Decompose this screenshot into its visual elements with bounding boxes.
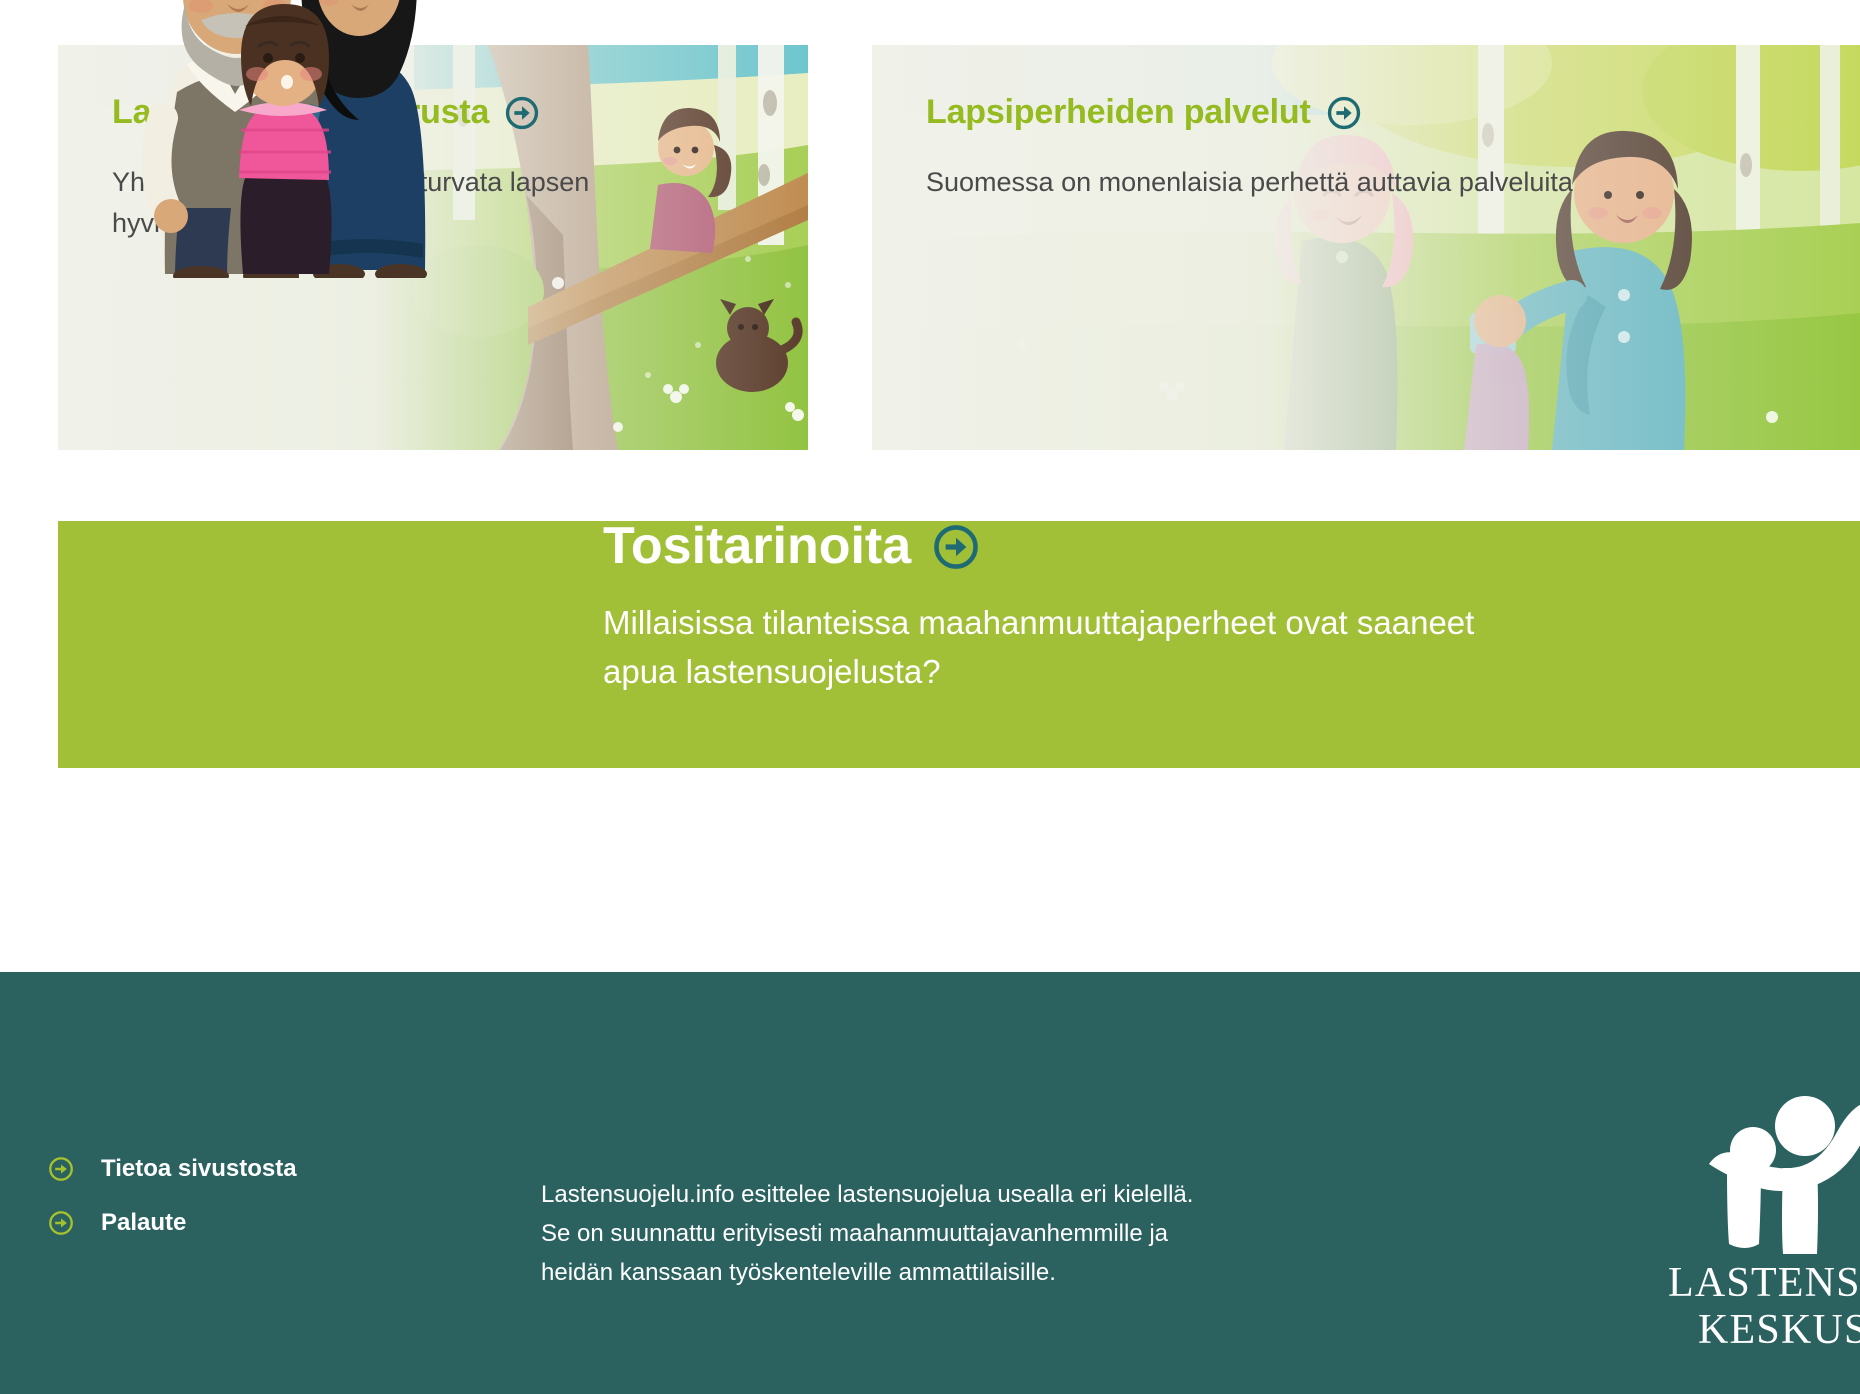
circle-arrow-right-icon[interactable] bbox=[1327, 96, 1361, 130]
promo-title-text: Tositarinoita bbox=[603, 518, 911, 575]
circle-arrow-right-icon bbox=[48, 1156, 74, 1182]
footer-inner: Tietoa sivustosta Palaute Lastensuojelu.… bbox=[0, 972, 1860, 1394]
circle-arrow-right-icon[interactable] bbox=[505, 96, 539, 130]
promo-description: Millaisissa tilanteissa maahanmuuttajape… bbox=[603, 599, 1543, 697]
footer-link-label: Palaute bbox=[101, 1209, 186, 1237]
card-title-text: Lapsiperheiden palvelut bbox=[926, 93, 1311, 132]
logo-wordmark-line1: LASTENSUOJE bbox=[1668, 1260, 1860, 1307]
logo-wordmark-line2: KESKUSLIITT bbox=[1668, 1307, 1860, 1354]
circle-arrow-right-icon[interactable] bbox=[933, 524, 979, 570]
dog-illustration bbox=[716, 299, 798, 392]
immigrant-family-illustration bbox=[115, 0, 455, 278]
card-title: Lapsiperheiden palvelut bbox=[926, 93, 1860, 132]
girl-figure bbox=[239, 4, 332, 274]
promo-text-block: Tositarinoita Millaisissa tilanteissa ma… bbox=[603, 518, 1563, 697]
promo-title: Tositarinoita bbox=[603, 518, 1563, 575]
promo-banner-tositarinoita[interactable]: Tositarinoita Millaisissa tilanteissa ma… bbox=[58, 521, 1860, 768]
footer-about-text: Lastensuojelu.info esittelee lastensuoje… bbox=[541, 1176, 1201, 1293]
footer-link-palaute[interactable]: Palaute bbox=[48, 1209, 297, 1237]
logo-wordmark: LASTENSUOJE KESKUSLIITT bbox=[1668, 1260, 1860, 1354]
footer-link-tietoa-sivustosta[interactable]: Tietoa sivustosta bbox=[48, 1155, 297, 1183]
card-description: Suomessa on monenlaisia perhettä auttavi… bbox=[926, 162, 1586, 203]
footer-links: Tietoa sivustosta Palaute bbox=[48, 1155, 297, 1237]
promo-card-lapsiperheiden-palvelut[interactable]: Lapsiperheiden palvelut Suomessa on mone… bbox=[872, 45, 1860, 450]
footer-link-label: Tietoa sivustosta bbox=[101, 1155, 297, 1183]
card-text-block: Lapsiperheiden palvelut Suomessa on mone… bbox=[926, 93, 1860, 203]
child-illustration bbox=[1464, 295, 1529, 450]
circle-arrow-right-icon bbox=[48, 1210, 74, 1236]
site-footer: Tietoa sivustosta Palaute Lastensuojelu.… bbox=[0, 972, 1860, 1394]
two-figures-logo-icon bbox=[1703, 1094, 1860, 1254]
